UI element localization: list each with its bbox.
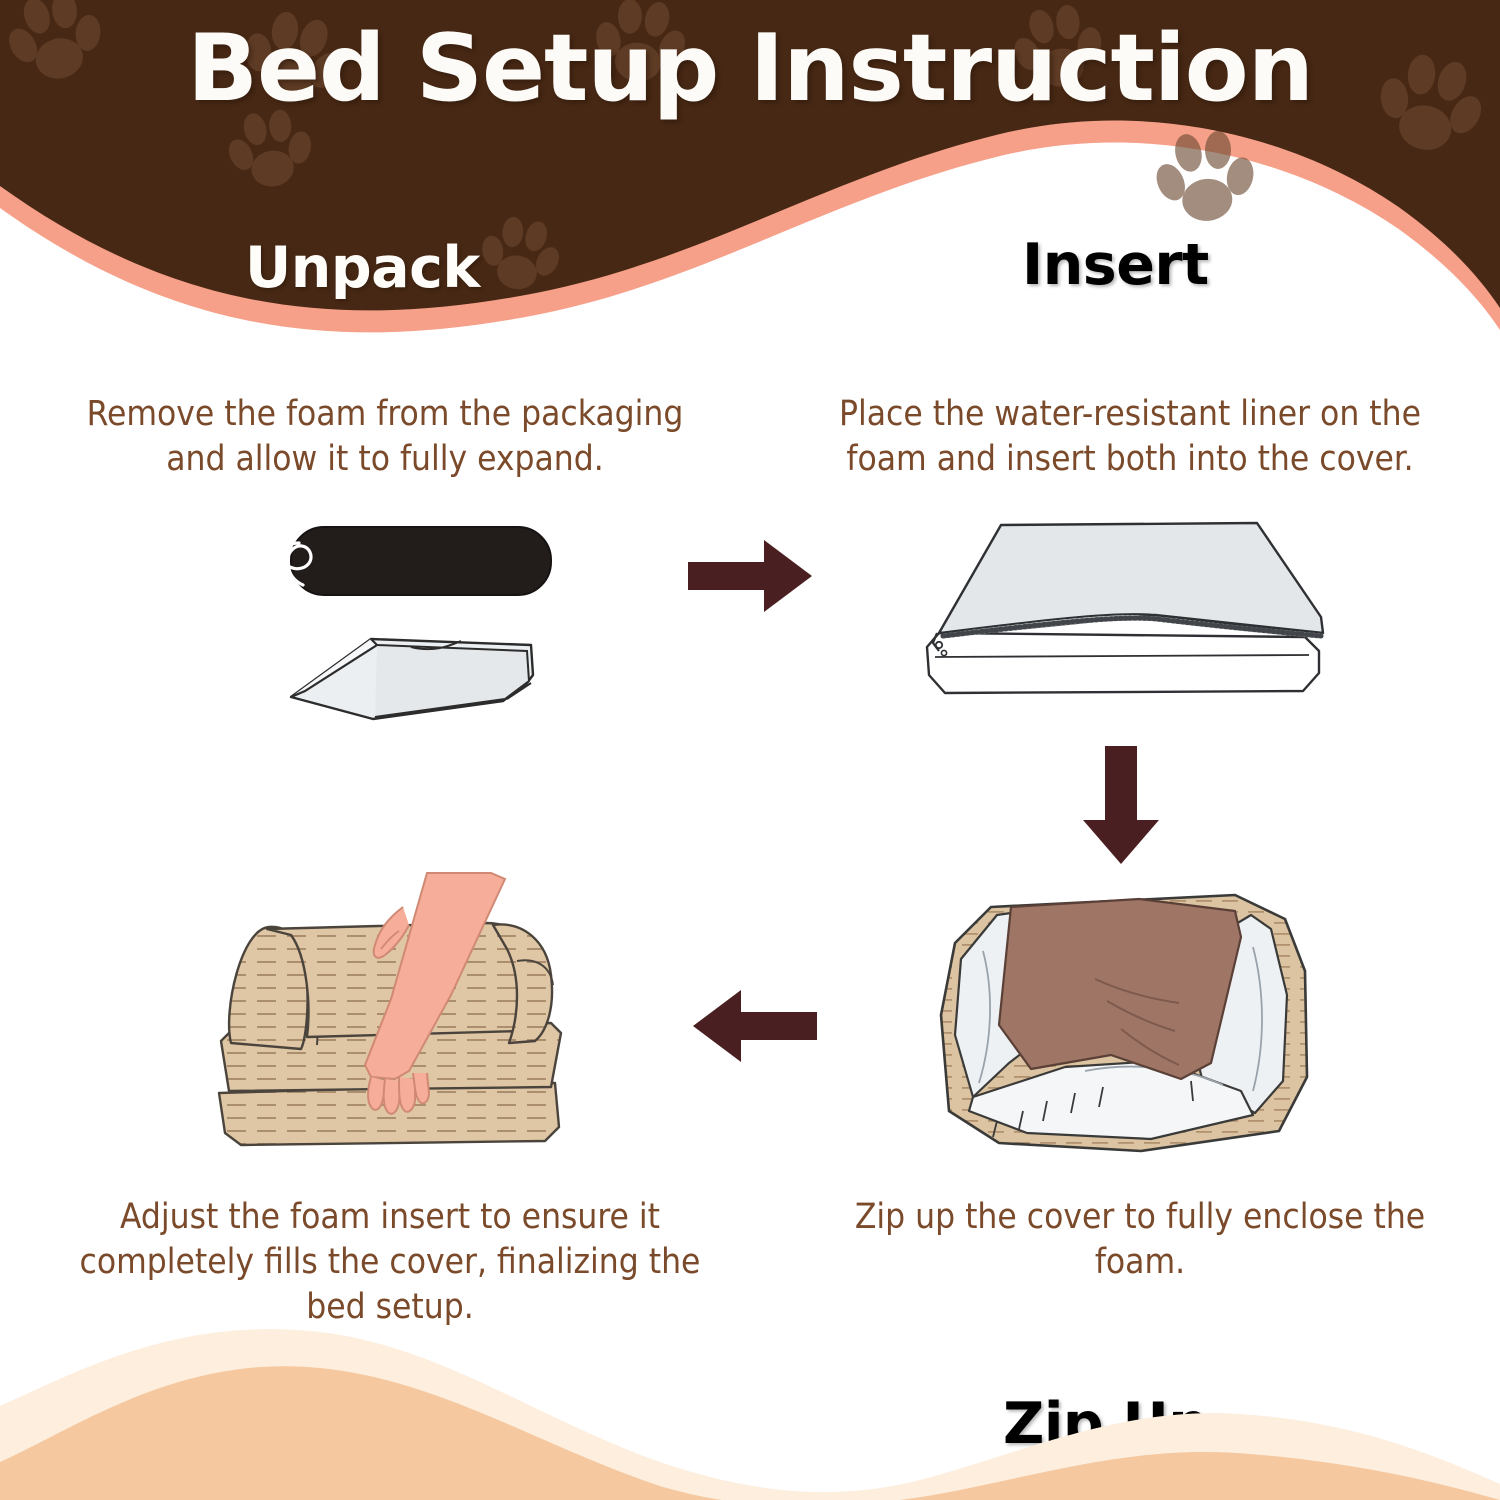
arrow-right-icon [680, 530, 820, 622]
rolled-foam-icon [282, 527, 551, 595]
brown-foam-core [999, 899, 1241, 1079]
step-tag-insert: Insert [1022, 237, 1209, 294]
caption-zipup: Zip up the cover to fully enclose the fo… [830, 1195, 1450, 1285]
caption-unpack: Remove the foam from the packaging and a… [60, 392, 710, 482]
footer-band [0, 1310, 1500, 1500]
rolled-foam-and-liner-illustration [255, 505, 645, 735]
caption-insert: Place the water-resistant liner on the f… [800, 392, 1460, 482]
header-band: Bed Setup Instruction [0, 0, 1500, 360]
hand-fluffing-bed-illustration [195, 865, 615, 1165]
zipping-cover-illustration [935, 885, 1335, 1175]
cover-base-shape [927, 633, 1319, 693]
folded-liner-icon [291, 639, 533, 719]
footer-wave-graphic [0, 1310, 1500, 1500]
page-title: Bed Setup Instruction [0, 18, 1500, 118]
step-tag-unpack: Unpack [245, 240, 480, 297]
liner-on-foam-illustration [905, 505, 1335, 705]
arrow-left-icon [685, 980, 825, 1072]
instruction-poster: Bed Setup Instruction Unpack Insert Remo… [0, 0, 1500, 1500]
arrow-down-icon [1075, 740, 1167, 870]
